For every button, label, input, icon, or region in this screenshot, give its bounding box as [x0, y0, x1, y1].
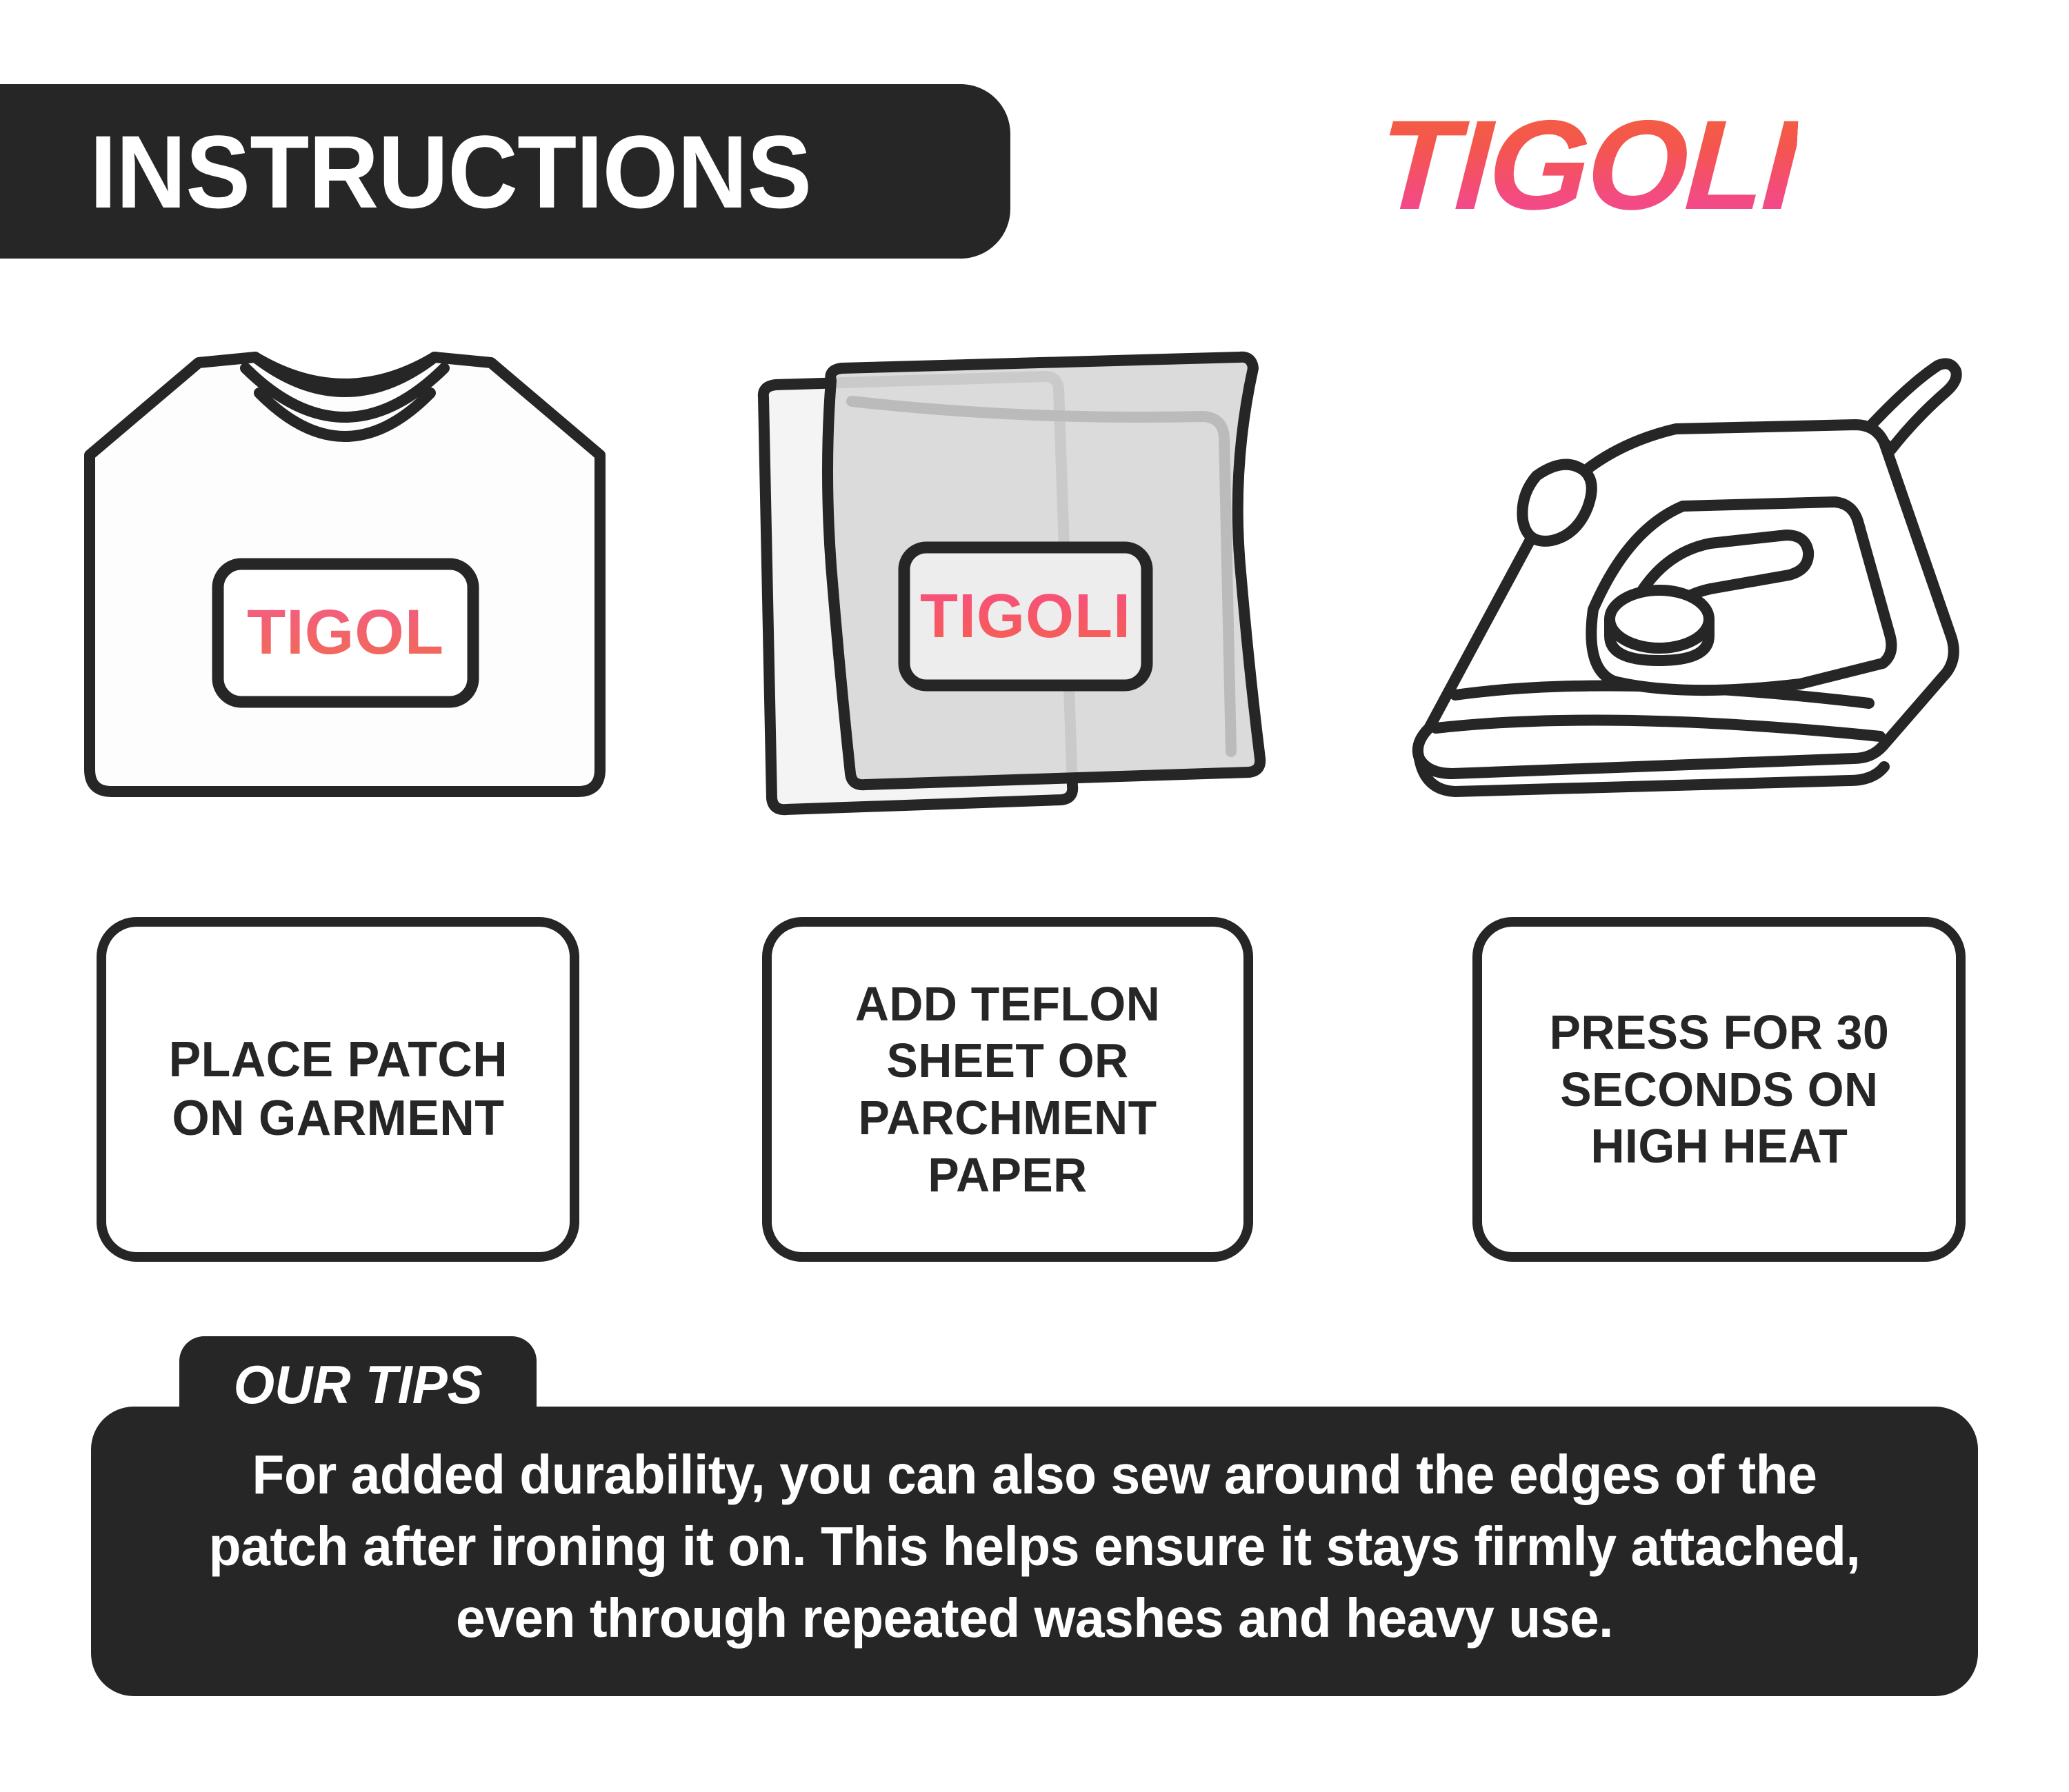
- step-label-2: ADD TEFLON SHEET OR PARCHMENT PAPER: [855, 976, 1160, 1203]
- step-label-3: PRESS FOR 30 SECONDS ON HIGH HEAT: [1549, 1004, 1889, 1175]
- header-bar: INSTRUCTIONS: [0, 84, 1010, 259]
- step-box-3: PRESS FOR 30 SECONDS ON HIGH HEAT: [1472, 917, 1966, 1262]
- step-box-1: PLACE PATCH ON GARMENT: [97, 917, 579, 1262]
- tips-panel: For added durability, you can also sew a…: [91, 1407, 1978, 1696]
- teflon-sheet-illustration: TIGOLI: [748, 345, 1293, 869]
- brand-logo: TIGOLI: [1383, 97, 1792, 234]
- tips-body-text: For added durability, you can also sew a…: [175, 1439, 1894, 1654]
- svg-text:TIGOLI: TIGOLI: [920, 582, 1131, 651]
- step-label-1: PLACE PATCH ON GARMENT: [168, 1031, 508, 1148]
- step-box-2: ADD TEFLON SHEET OR PARCHMENT PAPER: [762, 917, 1253, 1262]
- iron-illustration: [1386, 345, 1993, 869]
- instructions-page: INSTRUCTIONS TIGOLI: [0, 0, 2069, 1792]
- svg-text:TIGOL: TIGOL: [247, 597, 444, 667]
- our-tips-tab: OUR TIPS: [179, 1336, 537, 1433]
- brand-logo-text: TIGOLI: [1375, 102, 1799, 230]
- tshirt-illustration: TIGOL: [83, 345, 607, 869]
- illustration-row: TIGOL TIGOLI: [0, 345, 2069, 869]
- page-title: INSTRUCTIONS: [90, 120, 811, 223]
- our-tips-label: OUR TIPS: [233, 1358, 482, 1411]
